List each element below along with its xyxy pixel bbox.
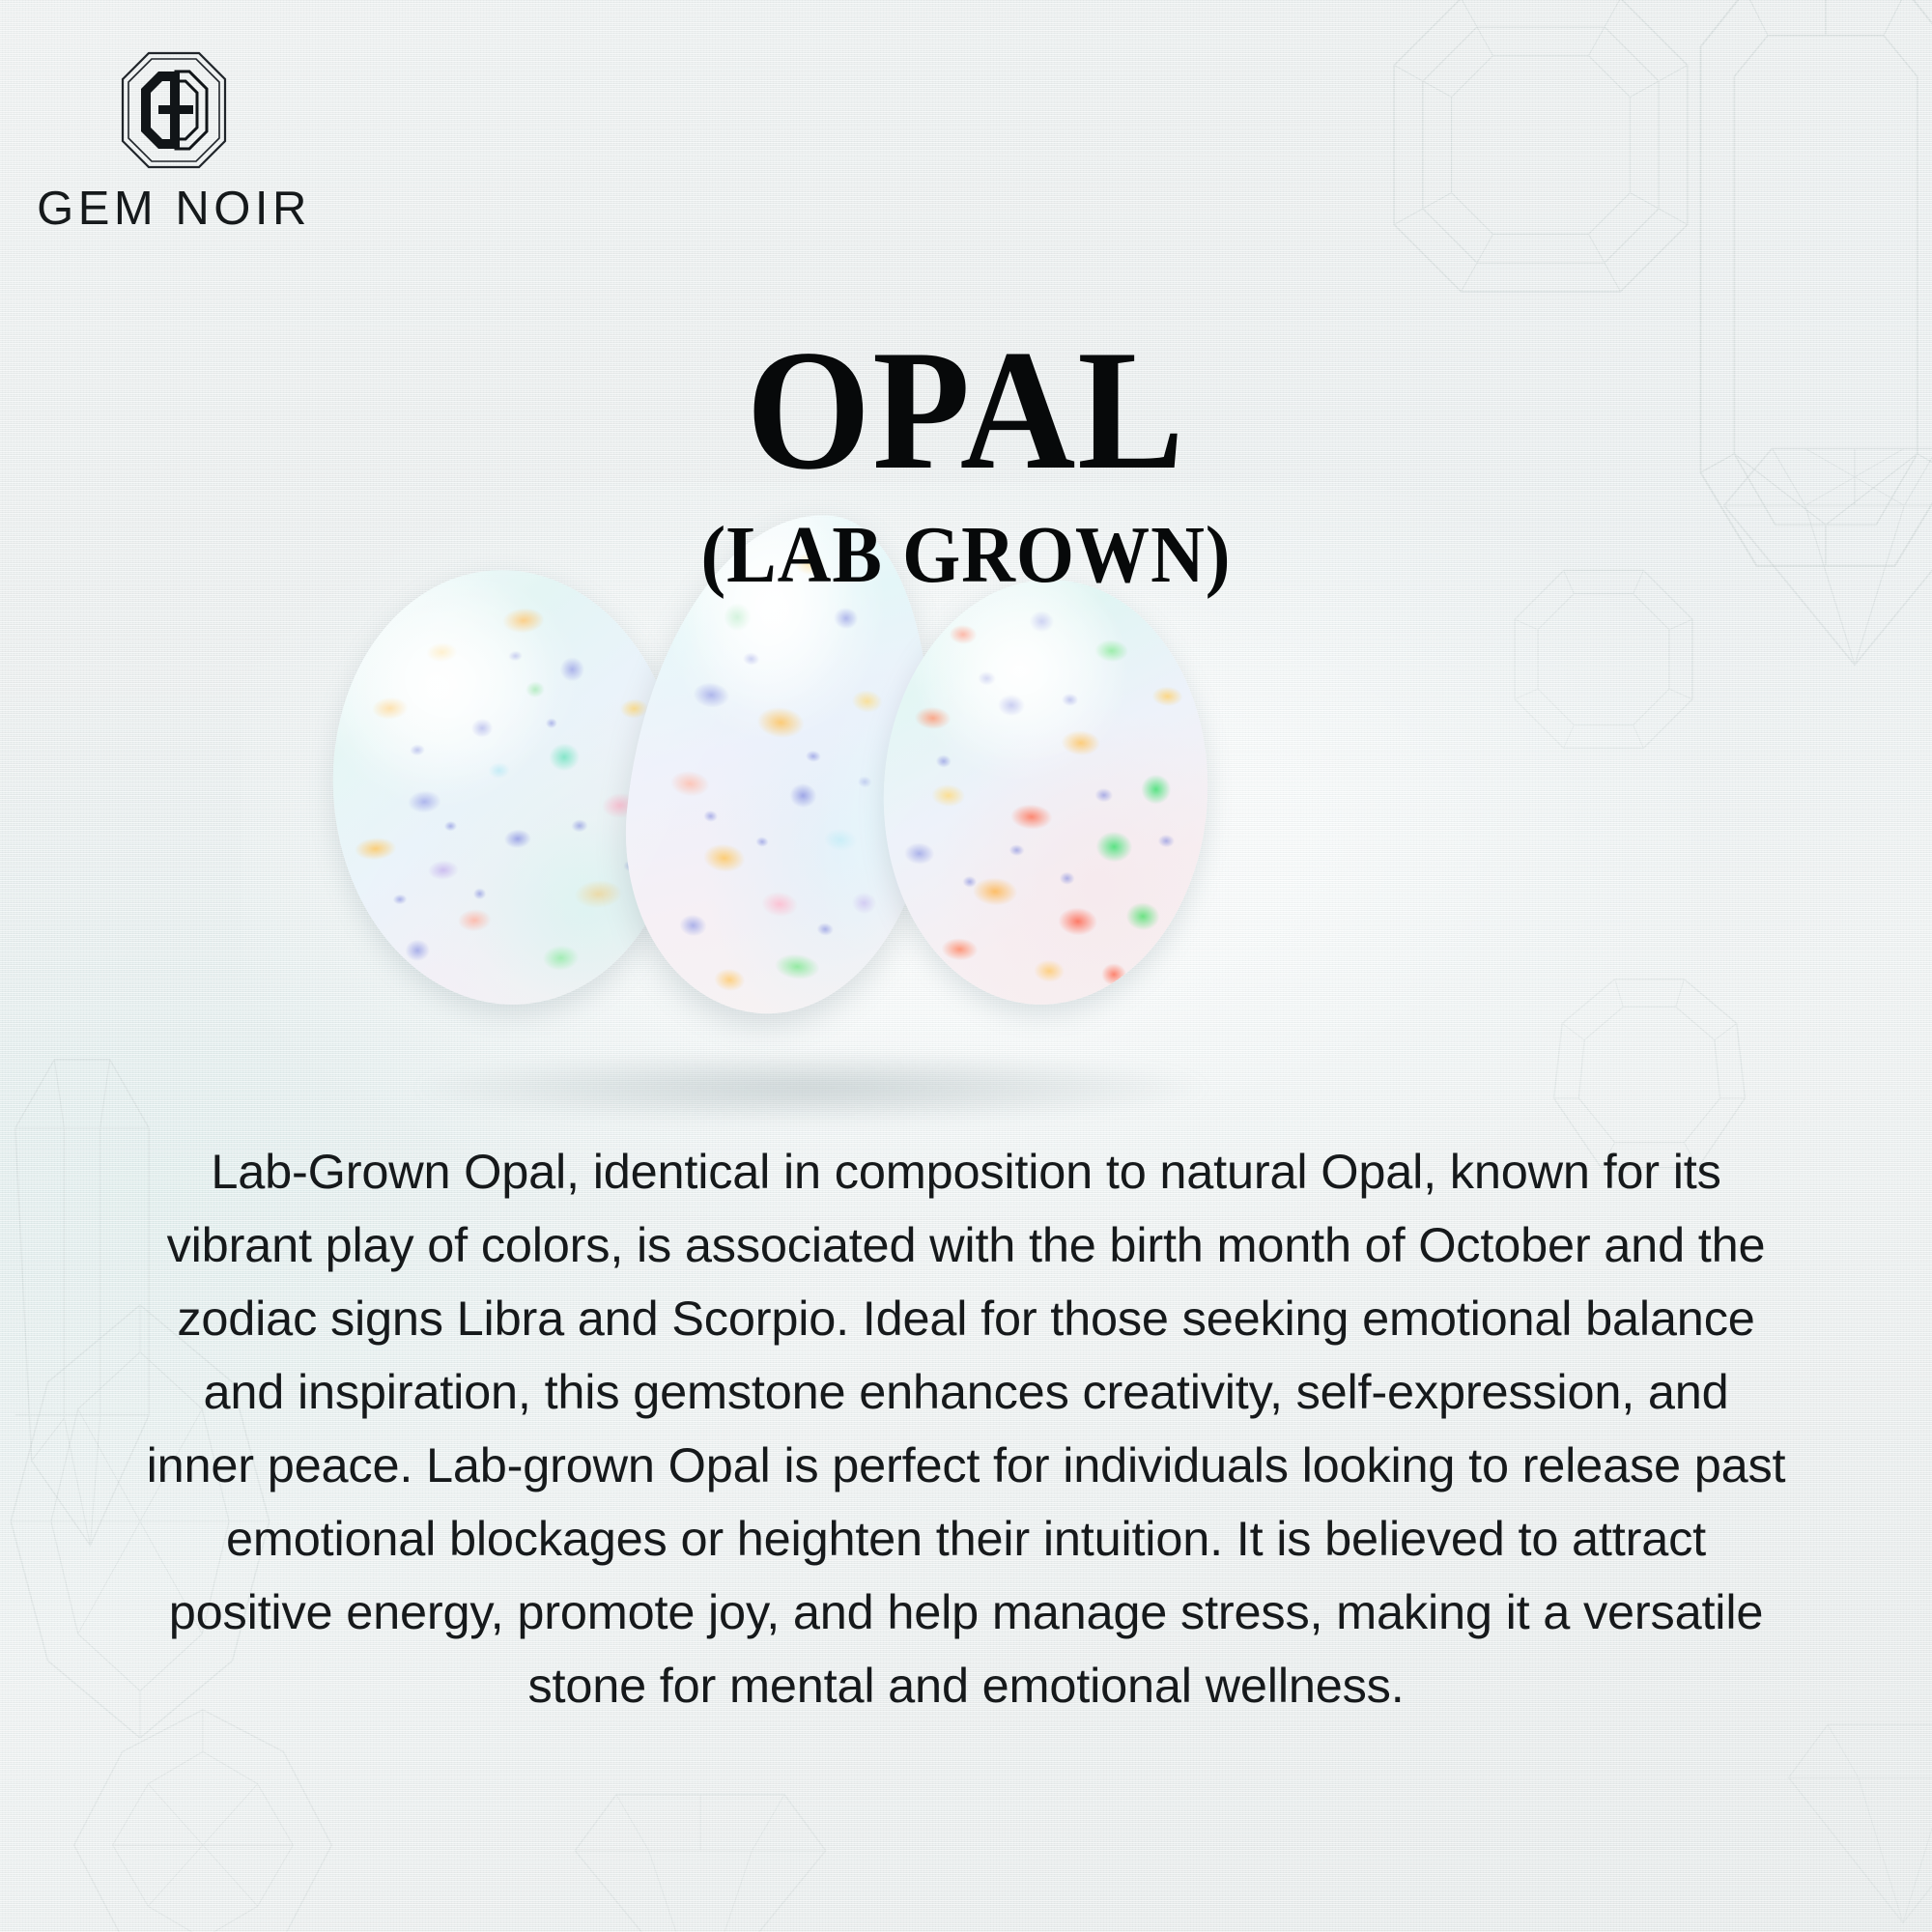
brand-wordmark: GEM NOIR [34,182,314,236]
gem-shadow [415,1053,1207,1122]
emerald-cut-gem-outline [1381,0,1700,309]
page-subtitle: (LAB GROWN) [77,515,1855,596]
heading-block: OPAL (LAB GROWN) [0,328,1932,596]
page-title: OPAL [68,328,1864,492]
gemstone-group [0,609,1932,1150]
gemstone-info-card: GEM NOIR OPAL (LAB GROWN) [0,0,1932,1932]
round-gem-outline [560,1768,840,1932]
oval-gem-outline [58,1700,348,1932]
description-text: Lab-Grown Opal, identical in composition… [0,1135,1932,1722]
round-gem-outline-right [1777,1700,1932,1932]
brand-logo[interactable]: GEM NOIR [34,50,314,236]
gem-noir-monogram-icon [120,50,228,166]
right-oval-opal [873,572,1219,1013]
